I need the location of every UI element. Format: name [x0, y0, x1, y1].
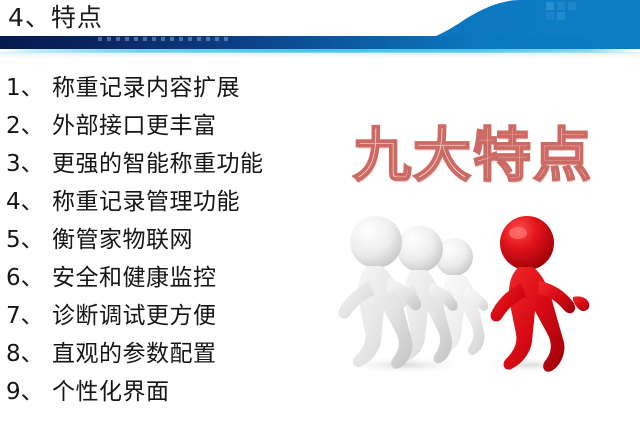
list-item: 2、 外部接口更丰富	[0, 106, 330, 144]
list-item-label: 个性化界面	[52, 372, 170, 406]
list-item-number: 3、	[6, 144, 52, 178]
list-item: 4、 称重记录管理功能	[0, 182, 330, 220]
list-item: 8、 直观的参数配置	[0, 334, 330, 372]
header-gradient-bar	[0, 36, 640, 49]
slide-canvas: 4、特点 1、 称重记录内容扩展 2、 外部接口更丰富 3、 更强的智能称重功能…	[0, 0, 640, 421]
shadow-ellipse	[478, 357, 582, 373]
list-item-label: 外部接口更丰富	[52, 106, 217, 140]
slide-header: 4、特点	[0, 0, 640, 58]
list-item: 5、 衡管家物联网	[0, 220, 330, 258]
list-item-number: 4、	[6, 182, 52, 216]
running-figures-illustration	[330, 205, 635, 380]
list-item-number: 2、	[6, 106, 52, 140]
list-item: 9、 个性化界面	[0, 372, 330, 410]
list-item: 3、 更强的智能称重功能	[0, 144, 330, 182]
decorative-red-heading: 九大特点	[340, 122, 606, 188]
list-item-number: 5、	[6, 220, 52, 254]
list-item-label: 衡管家物联网	[52, 220, 193, 254]
list-item-number: 1、	[6, 68, 52, 102]
list-item-label: 安全和健康监控	[52, 258, 217, 292]
list-item-number: 8、	[6, 334, 52, 368]
list-item-label: 直观的参数配置	[52, 334, 217, 368]
header-bar-dot-pattern	[98, 37, 228, 41]
list-item-label: 称重记录内容扩展	[52, 68, 240, 102]
list-item: 7、 诊断调试更方便	[0, 296, 330, 334]
list-item-label: 称重记录管理功能	[52, 182, 240, 216]
list-item-label: 诊断调试更方便	[52, 296, 217, 330]
page-title: 4、特点	[8, 1, 103, 35]
list-item: 1、 称重记录内容扩展	[0, 68, 330, 106]
list-item-number: 7、	[6, 296, 52, 330]
runner-figure-red-leader	[491, 216, 590, 372]
list-item-label: 更强的智能称重功能	[52, 144, 264, 178]
list-item: 6、 安全和健康监控	[0, 258, 330, 296]
list-item-number: 9、	[6, 372, 52, 406]
header-underline-glow	[0, 52, 640, 58]
feature-list: 1、 称重记录内容扩展 2、 外部接口更丰富 3、 更强的智能称重功能 4、 称…	[0, 68, 330, 410]
list-item-number: 6、	[6, 258, 52, 292]
